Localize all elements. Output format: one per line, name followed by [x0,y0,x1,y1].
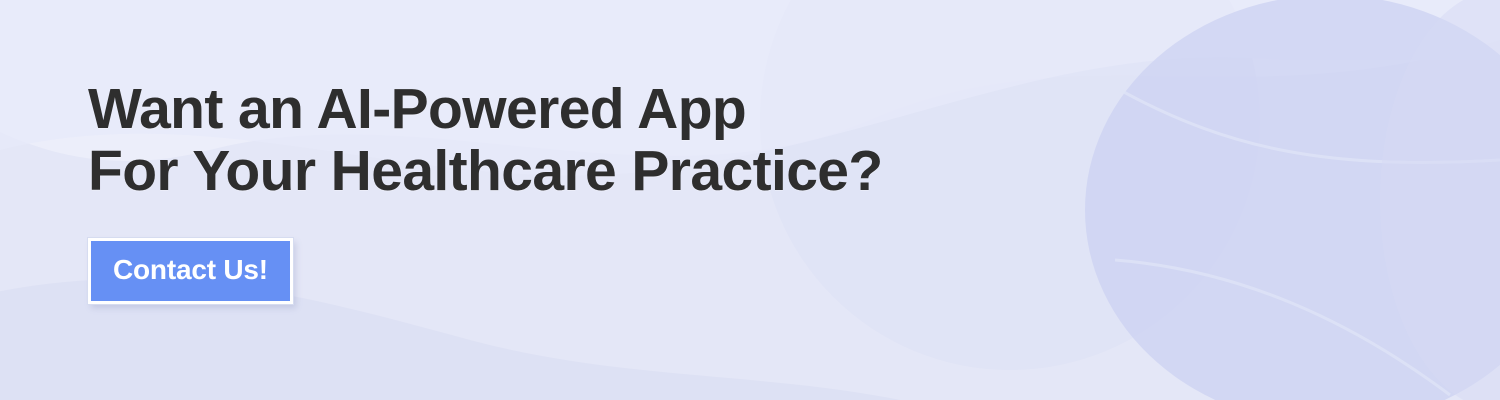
promo-banner: Want an AI-Powered App For Your Healthca… [0,0,1500,400]
banner-copy: Want an AI-Powered App For Your Healthca… [88,78,968,304]
cta-container: Contact Us! [88,238,968,304]
page-title: Want an AI-Powered App For Your Healthca… [88,78,968,202]
contact-us-button[interactable]: Contact Us! [88,238,293,304]
phone-mockups: Healthcare Practice! Start Choose what y… [1000,0,1500,400]
